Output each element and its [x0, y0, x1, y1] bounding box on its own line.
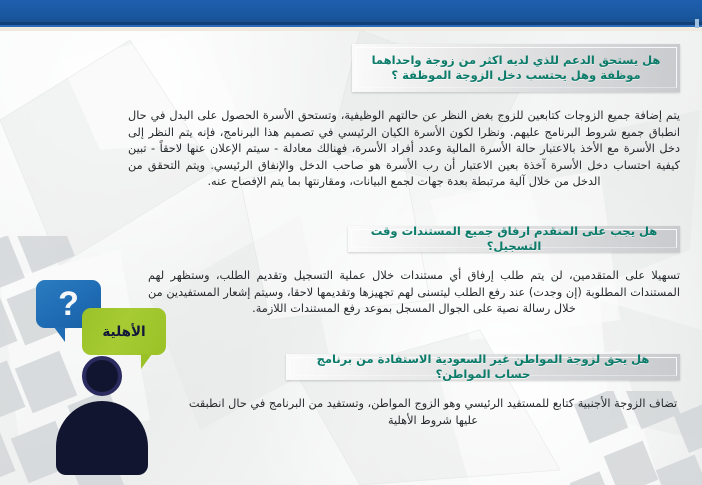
eligibility-bubble-tail: [141, 354, 152, 369]
eligibility-speech-bubble: الأهلية: [82, 308, 166, 355]
top-blue-bar: [0, 0, 702, 22]
question-banner-1-text: هل يستحق الدعم للذي لديه اكثر من زوجة وا…: [363, 53, 670, 83]
question-banner-2[interactable]: هل يجب على المتقدم ارفاق جميع المستندات …: [348, 226, 680, 252]
avatar-body: [56, 401, 148, 475]
faq-illustration: ? الأهلية: [24, 274, 184, 479]
answer-paragraph-2: تسهيلا على المتقدمين، لن يتم طلب إرفاق أ…: [148, 268, 680, 318]
question-banner-3-frame: هل يحق لزوجة المواطن غير السعودية الاستف…: [289, 357, 677, 376]
eligibility-bubble-label: الأهلية: [82, 308, 166, 355]
cream-divider-strip: [0, 27, 702, 31]
question-bubble-tail: [54, 327, 65, 342]
user-avatar-icon: [54, 356, 150, 474]
question-banner-3-text: هل يحق لزوجة المواطن غير السعودية الاستف…: [290, 352, 676, 382]
avatar-head: [82, 356, 122, 396]
answer-paragraph-1: يتم إضافة جميع الزوجات كتابعين للزوج بغض…: [128, 108, 680, 191]
question-banner-3[interactable]: هل يحق لزوجة المواطن غير السعودية الاستف…: [286, 354, 680, 380]
question-banner-1[interactable]: هل يستحق الدعم للذي لديه اكثر من زوجة وا…: [352, 44, 680, 92]
top-bar-corner-nub: [695, 19, 699, 28]
question-banner-2-text: هل يجب على المتقدم ارفاق جميع المستندات …: [352, 224, 676, 254]
question-banner-1-frame: هل يستحق الدعم للذي لديه اكثر من زوجة وا…: [355, 47, 677, 88]
answer-paragraph-3: تضاف الزوجة الأجنبية كتابع للمستفيد الرئ…: [186, 396, 680, 429]
infographic-page: هل يستحق الدعم للذي لديه اكثر من زوجة وا…: [0, 0, 702, 485]
question-banner-2-frame: هل يجب على المتقدم ارفاق جميع المستندات …: [351, 229, 677, 248]
